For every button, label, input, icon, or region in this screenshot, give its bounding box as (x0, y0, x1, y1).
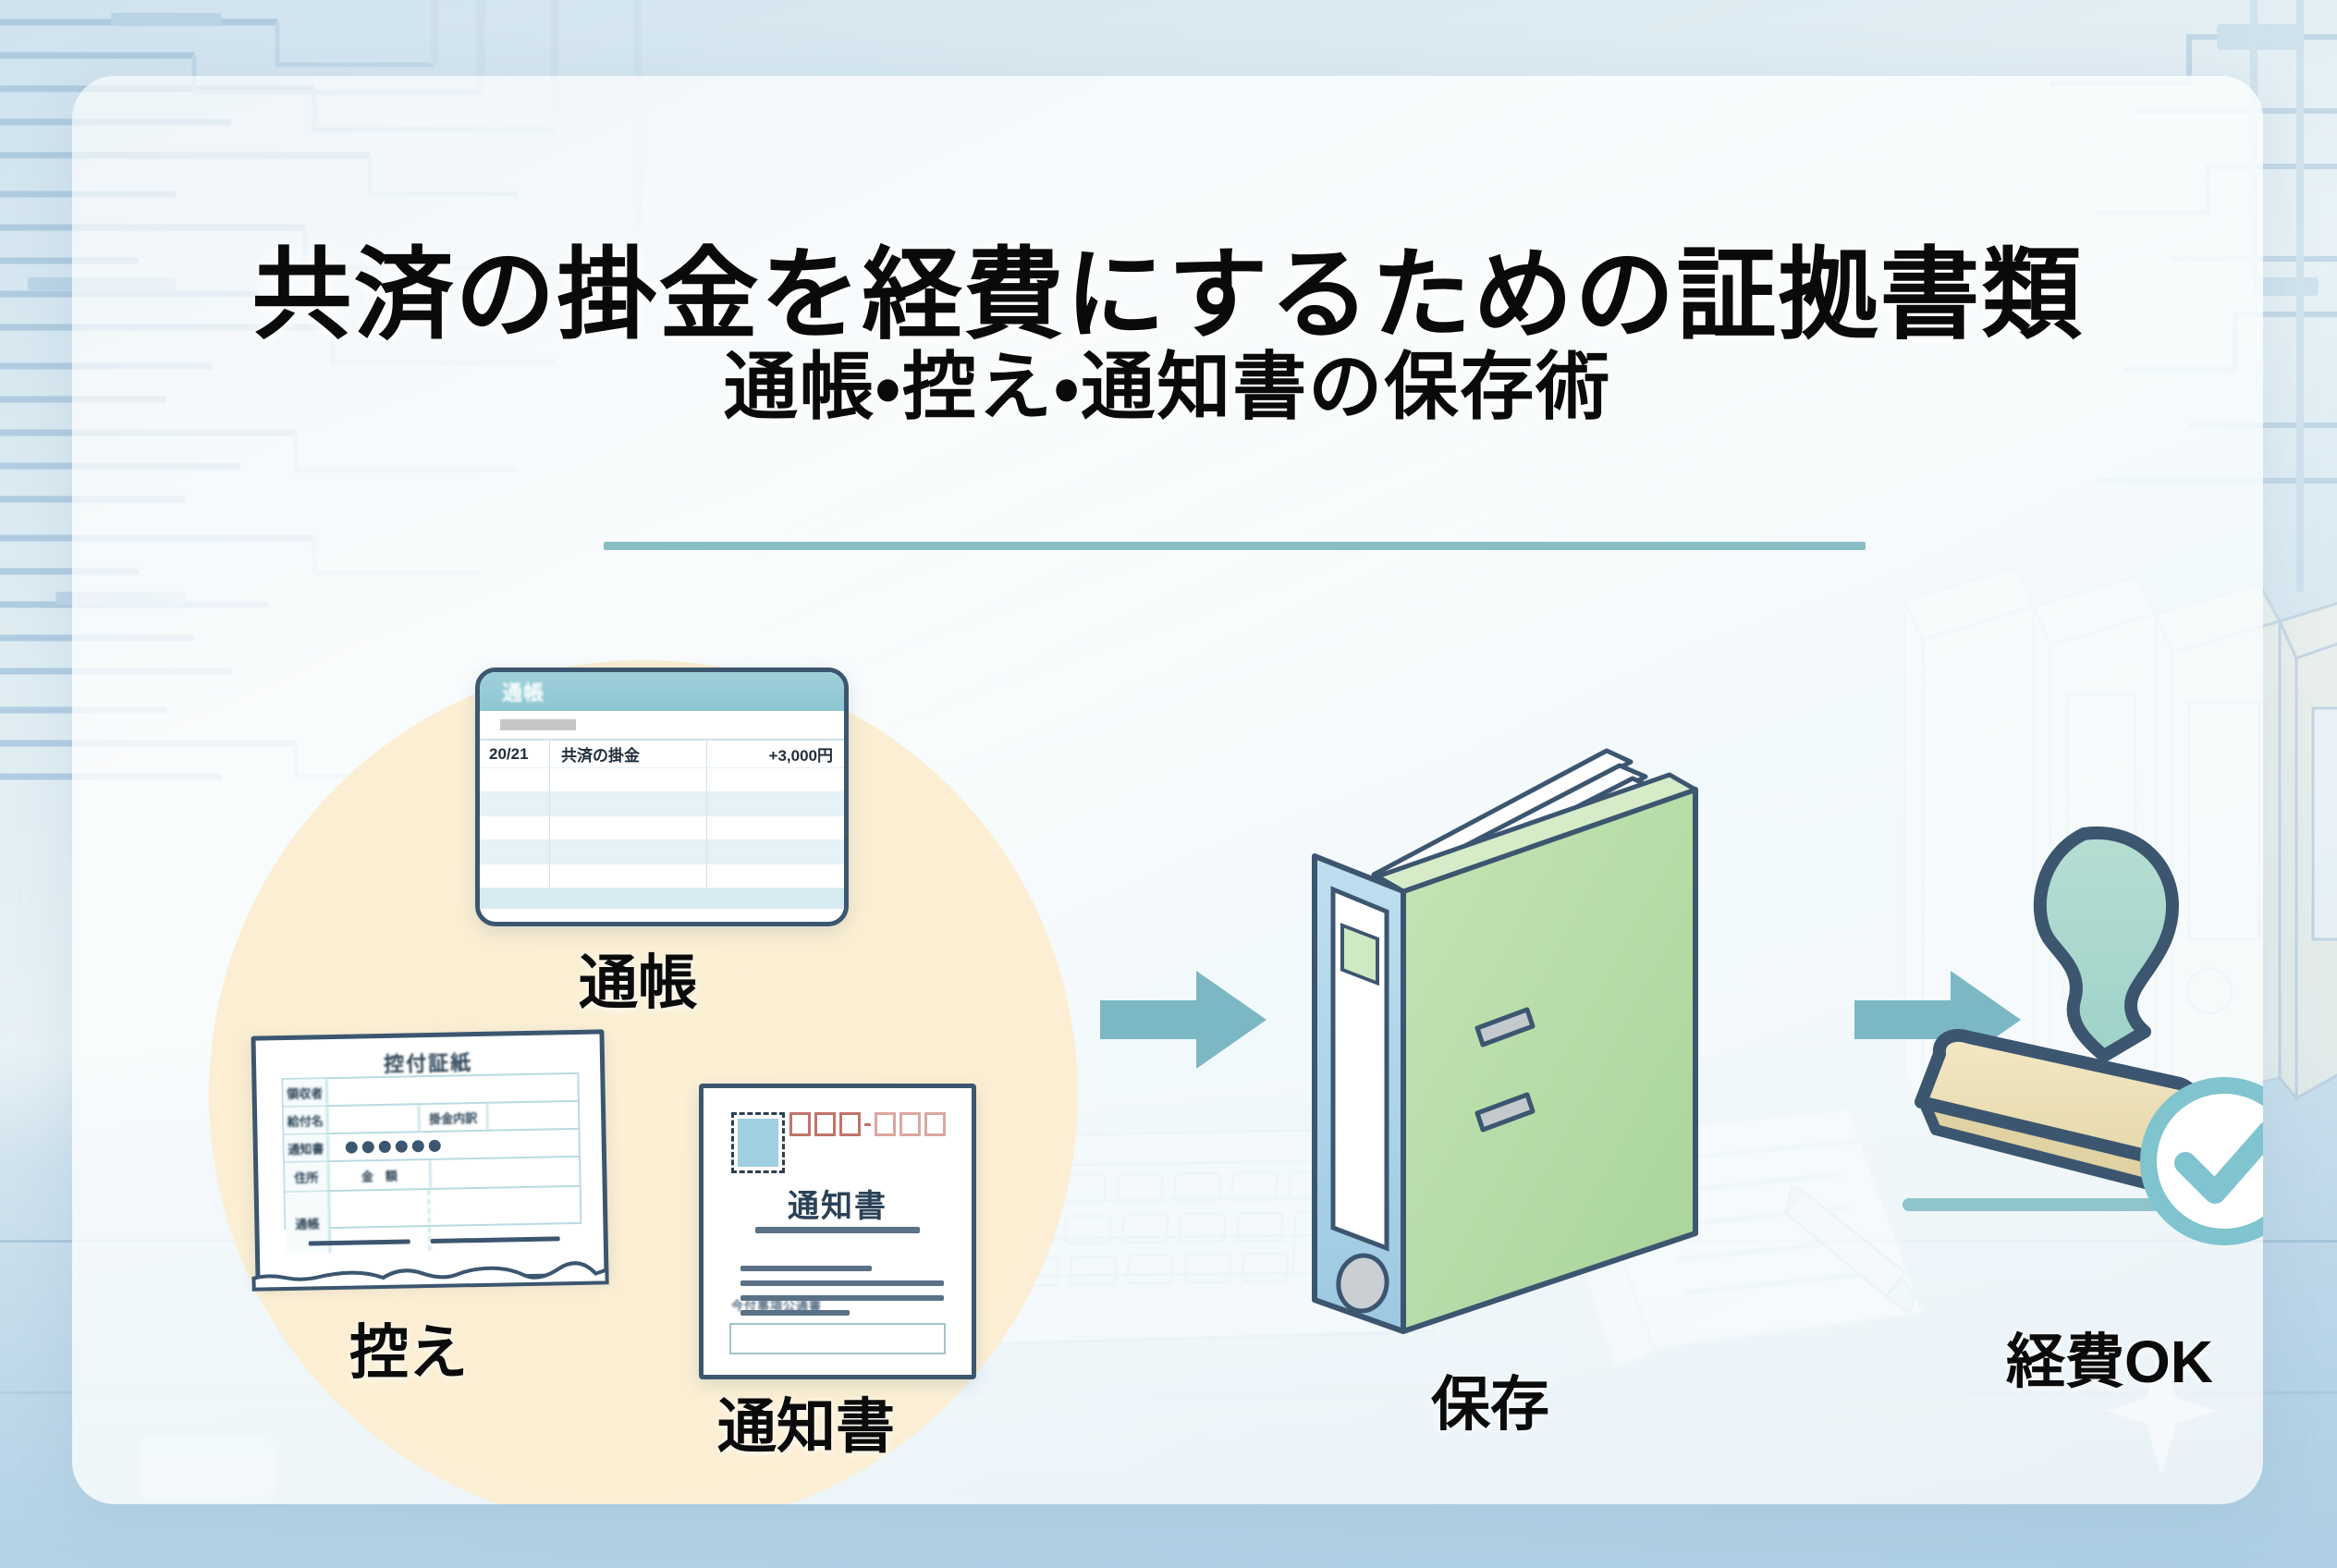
notice-body-line (740, 1266, 872, 1271)
ring-binder-icon (1302, 734, 1782, 1381)
bankbook-header: 通帳 (480, 672, 844, 711)
table-row (480, 768, 844, 792)
receipt-document[interactable]: 控付証紙 領収者 給付名 掛金内訳 通知書 (251, 1029, 608, 1283)
page-subtitle: 通帳・控え・通知書の保存術 (72, 327, 2263, 435)
table-row: 20/21 共済の掛金 +3,000円 (480, 741, 844, 768)
bankbook-table: 20/21 共済の掛金 +3,000円 (480, 739, 844, 888)
content-card: 共済の掛金を経費にするための証拠書類 通帳・控え・通知書の保存術 通帳 20/2… (72, 76, 2263, 1504)
table-row (480, 816, 844, 840)
title-divider (604, 542, 1866, 550)
table-row (480, 864, 844, 888)
receipt-field-value: 金 額 (329, 1160, 432, 1190)
receipt-field-label: 住所 (285, 1162, 330, 1191)
receipt-field-grid: 領収者 給付名 掛金内訳 通知書 住所 金 額 (281, 1072, 581, 1230)
notice-body-line (740, 1280, 944, 1286)
label-store: 保存 (1431, 1357, 1549, 1442)
approval-stamp-illustration[interactable] (1884, 806, 2263, 1305)
bankbook-footer (480, 888, 844, 909)
table-row (480, 792, 844, 816)
masked-dots-icon (338, 1139, 441, 1153)
notice-footer-label: 今付事項公通書 (731, 1296, 822, 1314)
receipt-field-extra-value (488, 1102, 579, 1130)
notice-title: 通知書 (704, 1181, 972, 1226)
bankbook-cell-date: 20/21 (480, 741, 550, 767)
stamp-area-icon (731, 1112, 785, 1173)
receipt-field-value (328, 1105, 421, 1133)
infographic-canvas: 共済の掛金を経費にするための証拠書類 通帳・控え・通知書の保存術 通帳 20/2… (0, 0, 2337, 1568)
label-bankbook: 通帳 (579, 936, 697, 1021)
receipt-field-extra-label: 掛金内訳 (420, 1104, 489, 1131)
receipt-field-value (327, 1074, 577, 1105)
arrow-right-icon (1100, 971, 1266, 1069)
receipt-field-value (329, 1130, 579, 1160)
table-row (480, 840, 844, 864)
bankbook-card[interactable]: 通帳 20/21 共済の掛金 +3,000円 (475, 668, 849, 926)
receipt-field-label: 領収者 (283, 1079, 328, 1106)
notice-footer-input[interactable] (729, 1323, 946, 1354)
receipt-field-label: 給付名 (284, 1107, 329, 1133)
bankbook-cell-desc: 共済の掛金 (550, 741, 707, 767)
bankbook-header-label: 通帳 (502, 677, 544, 706)
receipt-field-blank (431, 1158, 580, 1188)
receipt-field-label: 通知書 (285, 1134, 330, 1161)
bankbook-masked-field (480, 711, 844, 739)
label-notice: 通知書 (717, 1379, 895, 1464)
binder-illustration[interactable] (1302, 734, 1782, 1381)
label-approved: 経費OK (2006, 1315, 2213, 1400)
bankbook-cell-amount: +3,000円 (707, 741, 844, 767)
notice-underline (755, 1227, 920, 1233)
label-receipt: 控え (349, 1305, 468, 1390)
notice-document[interactable]: 通知書 今付事項公通書 (699, 1084, 976, 1379)
rubber-stamp-icon (1884, 806, 2263, 1305)
postal-code-boxes (789, 1112, 946, 1136)
